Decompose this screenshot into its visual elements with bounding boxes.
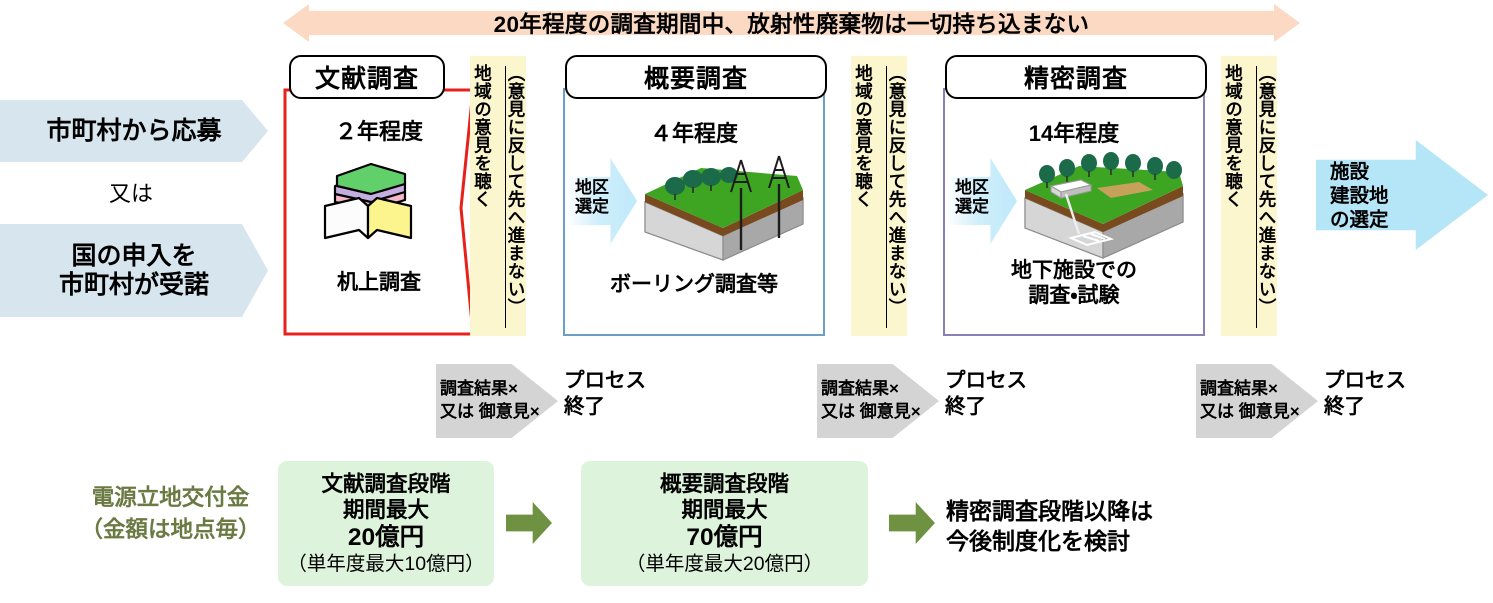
final-output-line1: 施設 (1330, 160, 1389, 184)
grant-box-preliminary-survey: 概要調査段階 期間最大 70億円 （単年度最大20億円） (581, 461, 868, 586)
district-selection-label-3-line1: 地区 (950, 178, 994, 197)
stage-2-title: 概要調査 (644, 59, 748, 95)
entry-option-government-offer: 国の申入を 市町村が受諾 (0, 224, 268, 317)
final-output-label: 施設 建設地 の選定 (1330, 150, 1430, 242)
grant-future-note-line2: 今後制度化を検討 (946, 527, 1153, 557)
top-banner-label: 20年程度の調査期間中、放射性廃棄物は一切持ち込まない (283, 4, 1300, 42)
opinion-panel-2-sub: （意見に反して先へ進まない） (888, 64, 906, 330)
books-icon (313, 150, 423, 246)
exit-reason-3-line1: 調査結果× (1200, 378, 1308, 401)
entry-option-government-offer-line2: 市町村が受諾 (59, 271, 209, 300)
exit-condition-2: 調査結果× 又は 御意見× プロセス 終了 (817, 364, 1067, 438)
exit-reason-2: 調査結果× 又は 御意見× (817, 364, 929, 438)
stage-3-caption: 地下施設での 調査・試験 (945, 258, 1203, 308)
exit-result-2-line1: プロセス (945, 368, 1027, 394)
final-output-line3: の選定 (1330, 208, 1389, 232)
stage-3-body: 14年程度 地区 選定 (943, 88, 1205, 336)
grant-box-1-amount: 20億円 (348, 523, 424, 553)
terrain-boring-icon (631, 146, 816, 262)
stage-1-body: ２年程度 机上調査 (283, 88, 475, 336)
entry-option-application: 市町村から応募 (0, 100, 268, 162)
exit-result-1-line1: プロセス (564, 368, 646, 394)
stage-2-body: ４年程度 地区 選定 (563, 88, 825, 336)
entry-or-label: 又は (0, 172, 262, 212)
opinion-panel-3-main: 地域の意見を聴く (1224, 64, 1242, 330)
grant-box-2-stage: 概要調査段階 (660, 471, 789, 497)
exit-reason-1-line2: 又は 御意見× (440, 401, 548, 424)
stage-3-title-pill: 精密調査 (945, 55, 1207, 99)
grant-box-literature-survey: 文献調査段階 期間最大 20億円 （単年度最大10億円） (278, 461, 494, 586)
stage-1-caption: 机上調査 (283, 270, 475, 295)
exit-reason-1-line1: 調査結果× (440, 378, 548, 401)
entry-option-government-offer-line1: 国の申入を (59, 242, 209, 271)
district-selection-label-2-line2: 選定 (570, 197, 614, 216)
grant-box-1-note: （単年度最大10億円） (287, 553, 484, 576)
grant-box-1-period: 期間最大 (343, 497, 429, 523)
grant-section-label: 電源立地交付金 （金額は地点毎） (58, 482, 283, 546)
exit-reason-3-line2: 又は 御意見× (1200, 401, 1308, 424)
grant-future-note: 精密調査段階以降は 今後制度化を検討 (946, 497, 1153, 557)
opinion-panel-3-sub: （意見に反して先へ進まない） (1258, 64, 1276, 330)
stage-3-caption-line1: 地下施設での (945, 258, 1203, 283)
stage-1-duration: ２年程度 (283, 114, 475, 146)
opinion-panel-1-main: 地域の意見を聴く (473, 64, 491, 330)
stage-1-title: 文献調査 (315, 59, 419, 95)
exit-reason-2-line1: 調査結果× (821, 378, 929, 401)
opinion-panel-2: 地域の意見を聴く （意見に反して先へ進まない） (851, 56, 907, 336)
grant-box-2-note: （単年度最大20億円） (626, 553, 823, 576)
exit-result-3-line2: 終了 (1324, 394, 1406, 420)
grant-progress-arrow-1 (506, 502, 552, 544)
grant-section-label-line2: （金額は地点毎） (58, 514, 283, 546)
final-output-line2: 建設地 (1330, 184, 1389, 208)
terrain-underground-facility-icon (1011, 142, 1196, 262)
exit-result-1: プロセス 終了 (564, 368, 646, 420)
opinion-panel-1-sub: （意見に反して先へ進まない） (507, 64, 525, 330)
opinion-panel-3: 地域の意見を聴く （意見に反して先へ進まない） (1221, 56, 1277, 336)
exit-reason-1: 調査結果× 又は 御意見× (436, 364, 548, 438)
stage-2-title-pill: 概要調査 (565, 55, 827, 99)
exit-result-3-line1: プロセス (1324, 368, 1406, 394)
exit-condition-1: 調査結果× 又は 御意見× プロセス 終了 (436, 364, 686, 438)
stage-2-duration: ４年程度 (565, 116, 823, 148)
grant-section-label-line1: 電源立地交付金 (58, 482, 283, 514)
exit-reason-3: 調査結果× 又は 御意見× (1196, 364, 1308, 438)
opinion-panel-1: 地域の意見を聴く （意見に反して先へ進まない） (470, 56, 526, 336)
exit-result-3: プロセス 終了 (1324, 368, 1406, 420)
grant-future-note-line1: 精密調査段階以降は (946, 497, 1153, 527)
stage-2-caption: ボーリング調査等 (565, 272, 823, 297)
grant-box-2-amount: 70億円 (686, 523, 762, 553)
exit-result-2-line2: 終了 (945, 394, 1027, 420)
district-selection-label-3-line2: 選定 (950, 197, 994, 216)
entry-option-application-label: 市町村から応募 (46, 117, 221, 146)
exit-condition-3: 調査結果× 又は 御意見× プロセス 終了 (1196, 364, 1446, 438)
district-selection-label-3: 地区 選定 (950, 178, 994, 216)
diagram-canvas: 20年程度の調査期間中、放射性廃棄物は一切持ち込まない 市町村から応募 又は 国… (0, 0, 1493, 603)
grant-box-2-period: 期間最大 (681, 497, 767, 523)
district-selection-label-2-line1: 地区 (570, 178, 614, 197)
district-selection-label-2: 地区 選定 (570, 178, 614, 216)
exit-result-2: プロセス 終了 (945, 368, 1027, 420)
stage-1-title-pill: 文献調査 (289, 55, 445, 99)
exit-reason-2-line2: 又は 御意見× (821, 401, 929, 424)
opinion-panel-2-main: 地域の意見を聴く (854, 64, 872, 330)
stage-3-title: 精密調査 (1024, 59, 1128, 95)
grant-box-1-stage: 文献調査段階 (321, 471, 450, 497)
top-banner: 20年程度の調査期間中、放射性廃棄物は一切持ち込まない (283, 4, 1300, 42)
grant-progress-arrow-2 (889, 502, 935, 544)
stage-3-caption-line2: 調査・試験 (945, 283, 1203, 308)
exit-result-1-line2: 終了 (564, 394, 646, 420)
